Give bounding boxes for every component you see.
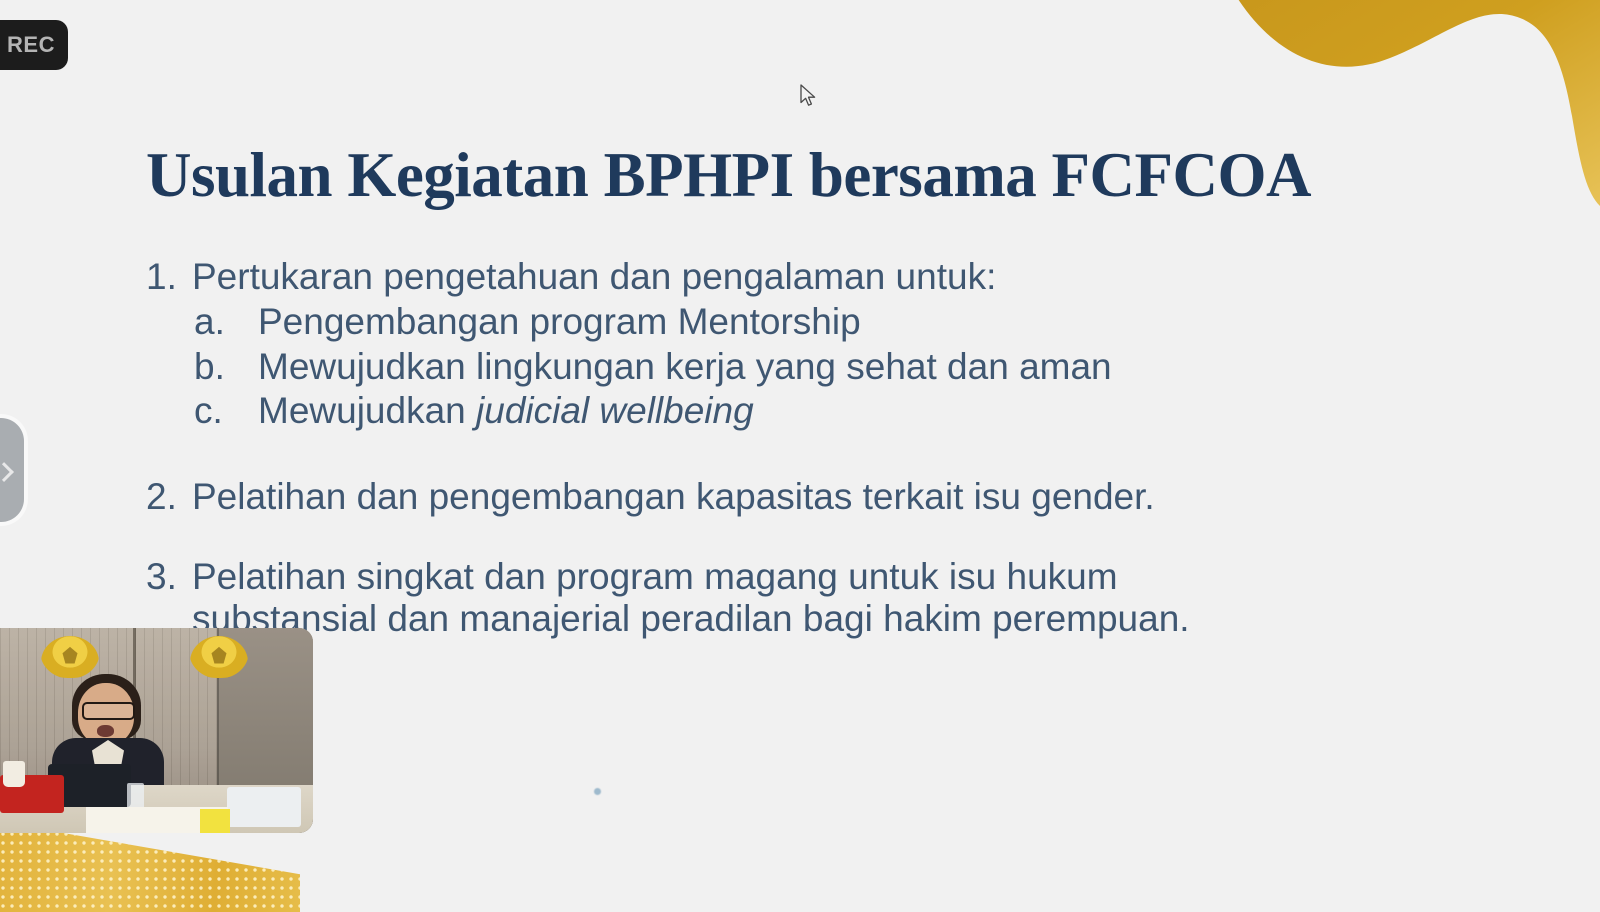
list-text-continuation: substansial dan manajerial peradilan bag…	[146, 598, 1506, 640]
list-text: Pelatihan singkat dan program magang unt…	[192, 556, 1506, 598]
recording-badge: REC	[0, 20, 68, 70]
chevron-right-icon	[0, 462, 14, 482]
desk-nameplate-tab	[200, 809, 230, 833]
list-marker: 1.	[146, 256, 192, 298]
slide-title: Usulan Kegiatan BPHPI bersama FCFCOA	[146, 142, 1311, 208]
sub-list-item: c. Mewujudkan judicial wellbeing	[146, 390, 1506, 432]
mouse-cursor	[800, 84, 818, 108]
speaker-glasses	[82, 702, 135, 720]
sub-list-item: a. Pengembangan program Mentorship	[146, 301, 1506, 343]
desk-white-object	[227, 787, 301, 827]
sub-list-marker: b.	[194, 346, 258, 388]
spacer	[146, 518, 1506, 556]
gold-band-fill	[0, 822, 300, 912]
sub-list-text-plain: Mewujudkan	[258, 390, 476, 431]
presentation-screen: Usulan Kegiatan BPHPI bersama FCFCOA 1. …	[0, 0, 1600, 912]
desk-cup	[3, 761, 25, 787]
spacer	[146, 432, 1506, 476]
sub-list-text-italic: judicial wellbeing	[476, 390, 754, 431]
speaker-mouth	[97, 725, 114, 737]
sub-list-marker: c.	[194, 390, 258, 432]
slide-body: 1. Pertukaran pengetahuan dan pengalaman…	[146, 256, 1506, 640]
list-item: 2. Pelatihan dan pengembangan kapasitas …	[146, 476, 1506, 518]
screen-artifact-dot	[594, 788, 601, 795]
gold-band-decoration-bottom-left	[0, 822, 300, 912]
sub-list-text: Pengembangan program Mentorship	[258, 301, 1506, 343]
sub-list-item: b. Mewujudkan lingkungan kerja yang seha…	[146, 346, 1506, 388]
sub-list-text: Mewujudkan lingkungan kerja yang sehat d…	[258, 346, 1506, 388]
sub-list-text: Mewujudkan judicial wellbeing	[258, 390, 1506, 432]
list-item: 1. Pertukaran pengetahuan dan pengalaman…	[146, 256, 1506, 298]
panel-collapse-handle[interactable]	[0, 418, 24, 522]
list-item: 3. Pelatihan singkat dan program magang …	[146, 556, 1506, 598]
recording-badge-label: REC	[7, 32, 55, 58]
sub-list: a. Pengembangan program Mentorship b. Me…	[146, 301, 1506, 432]
list-marker: 3.	[146, 556, 192, 598]
sub-list-marker: a.	[194, 301, 258, 343]
self-view-video-thumbnail[interactable]	[0, 628, 313, 833]
list-text: Pertukaran pengetahuan dan pengalaman un…	[192, 256, 1506, 298]
list-marker: 2.	[146, 476, 192, 518]
list-text: Pelatihan dan pengembangan kapasitas ter…	[192, 476, 1506, 518]
